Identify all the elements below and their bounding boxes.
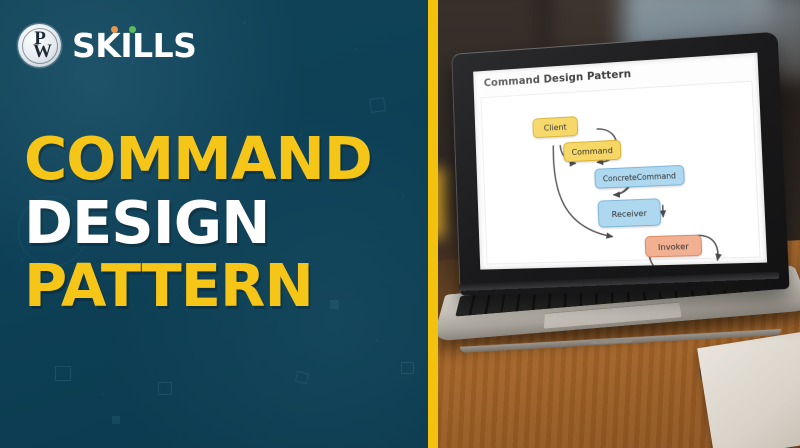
diagram-node-receiver[interactable]: Receiver <box>597 198 661 227</box>
diagram-canvas[interactable]: Client Command ConcreteCommand Receiver … <box>481 81 761 265</box>
decorative-square-icon <box>401 362 414 374</box>
pw-monogram: P W <box>28 31 51 59</box>
decorative-square-icon <box>369 97 386 113</box>
left-blue-panel: P W SKILLS COMMAND DESIGN PATTERN <box>0 0 429 448</box>
diagram-node-client[interactable]: Client <box>532 116 578 138</box>
headline-block: COMMAND DESIGN PATTERN <box>24 131 372 315</box>
yellow-divider <box>428 0 438 448</box>
laptop-screen[interactable]: Command Design Pattern <box>473 53 767 270</box>
diagram-node-concretecommand[interactable]: ConcreteCommand <box>594 165 685 189</box>
headline-line-command: COMMAND <box>24 131 372 188</box>
diagram-title: Command Design Pattern <box>484 68 632 89</box>
headline-line-design: DESIGN <box>24 195 372 252</box>
pw-badge-icon: P W <box>18 24 61 67</box>
laptop-photo: Command Design Pattern <box>437 0 800 448</box>
headline-line-pattern: PATTERN <box>24 258 372 315</box>
thumbnail-canvas: P W SKILLS COMMAND DESIGN PATTERN <box>0 0 800 448</box>
laptop-lid: Command Design Pattern <box>451 31 789 296</box>
laptop: Command Design Pattern <box>437 34 796 350</box>
decorative-square-icon <box>158 382 172 395</box>
logo-dot-orange-icon <box>111 26 118 33</box>
logo-wordmark: SKILLS <box>72 29 196 62</box>
logo-text-skills: SKILLS <box>72 29 196 62</box>
logo-dot-green-icon <box>129 26 136 33</box>
decorative-square-icon <box>55 366 71 381</box>
monogram-letter-w: W <box>33 44 51 60</box>
diagram-node-invoker[interactable]: Invoker <box>645 234 703 257</box>
pw-skills-logo[interactable]: P W SKILLS <box>18 24 196 67</box>
diagram-node-command[interactable]: Command <box>563 140 621 163</box>
decorative-dot-icon <box>112 416 120 424</box>
